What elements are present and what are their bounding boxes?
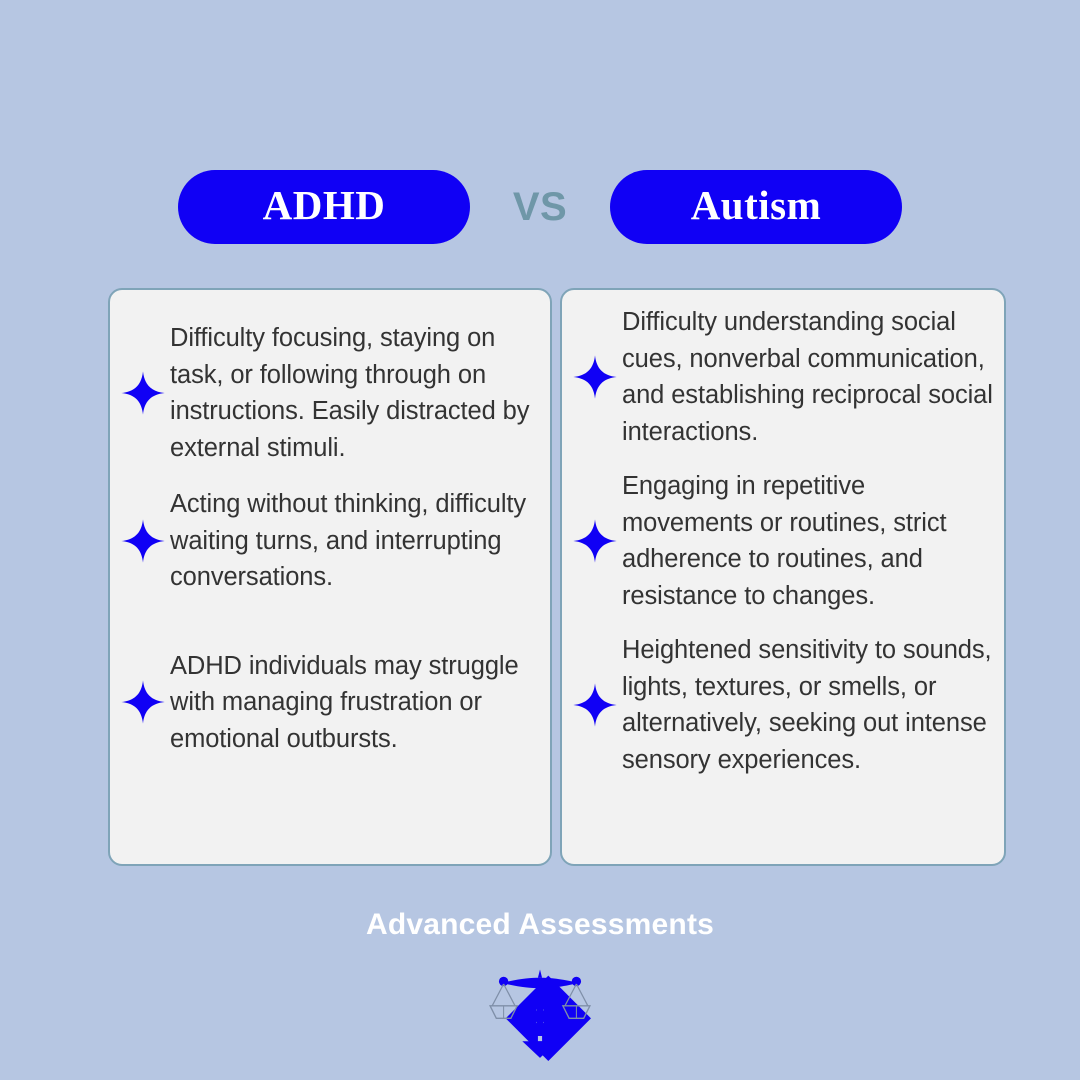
infographic-canvas: ADHD VS Autism Difficulty focusing, stay…: [0, 0, 1080, 1080]
sparkle-icon: [120, 370, 166, 416]
list-item-text: ADHD individuals may struggle with manag…: [170, 648, 540, 758]
card-autism: Difficulty understanding social cues, no…: [560, 288, 1006, 866]
pill-autism-label: Autism: [691, 185, 822, 229]
scales-of-justice-icon: [488, 958, 592, 1062]
sparkle-icon: [120, 518, 166, 564]
vs-label: VS: [470, 185, 610, 230]
pill-adhd[interactable]: ADHD: [178, 170, 470, 244]
list-item-text: Engaging in repetitive movements or rout…: [622, 468, 994, 614]
sparkle-icon: [120, 679, 166, 725]
comparison-cards: Difficulty focusing, staying on task, or…: [108, 288, 972, 866]
list-item-text: Heightened sensitivity to sounds, lights…: [622, 632, 994, 778]
list-item-text: Difficulty understanding social cues, no…: [622, 304, 994, 450]
list-item: Difficulty focusing, staying on task, or…: [120, 320, 540, 466]
sparkle-icon: [572, 518, 618, 564]
comparison-header: ADHD VS Autism: [0, 170, 1080, 244]
list-item: Heightened sensitivity to sounds, lights…: [572, 632, 994, 778]
sparkle-icon: [572, 682, 618, 728]
card-adhd: Difficulty focusing, staying on task, or…: [108, 288, 552, 866]
pill-autism[interactable]: Autism: [610, 170, 902, 244]
sparkle-icon: [572, 354, 618, 400]
brand-name: Advanced Assessments: [366, 908, 714, 942]
list-item: Acting without thinking, difficulty wait…: [120, 486, 540, 596]
footer: Advanced Assessments: [0, 908, 1080, 1062]
list-item: Engaging in repetitive movements or rout…: [572, 468, 994, 614]
list-item: ADHD individuals may struggle with manag…: [120, 648, 540, 758]
list-item-text: Difficulty focusing, staying on task, or…: [170, 320, 540, 466]
pill-adhd-label: ADHD: [263, 185, 386, 229]
list-item-text: Acting without thinking, difficulty wait…: [170, 486, 540, 596]
list-item: Difficulty understanding social cues, no…: [572, 304, 994, 450]
